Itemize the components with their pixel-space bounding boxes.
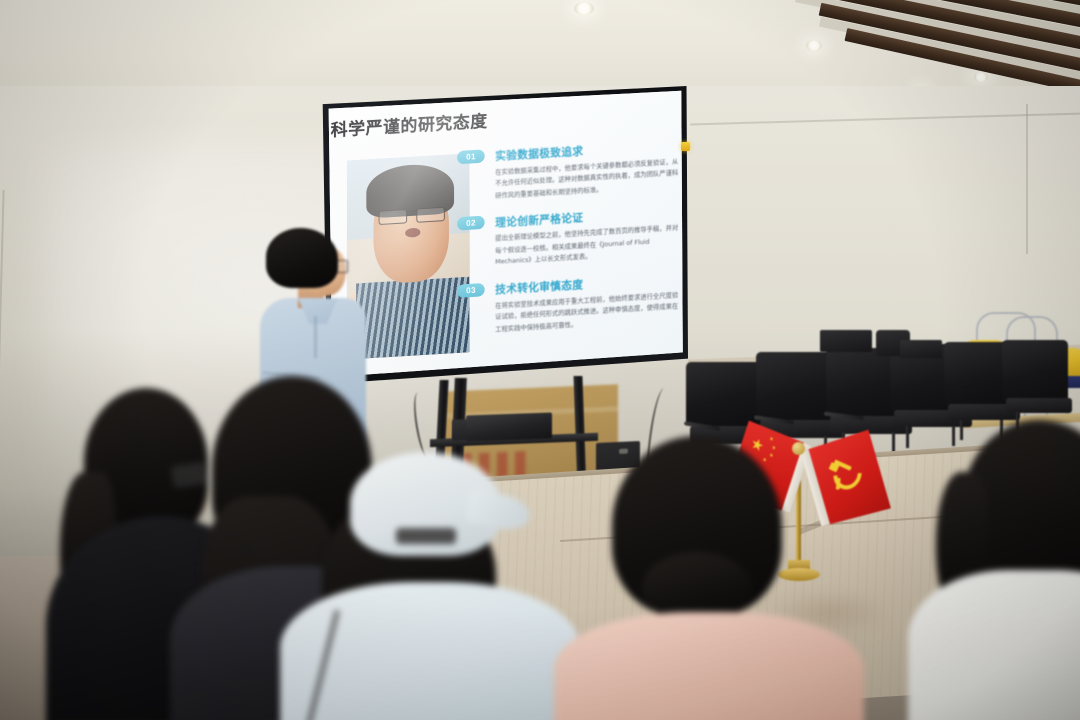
audience-right-white xyxy=(932,420,1080,720)
slide-item-list: 01 实验数据极致追求 在实验数据采集过程中，他要求每个关键参数都必须反复验证，… xyxy=(478,137,683,350)
cap-strap xyxy=(396,528,456,544)
presentation-room-photo: 科学严谨的研究态度 xyxy=(0,0,1080,720)
sickle-icon xyxy=(827,453,867,495)
sickle-handle xyxy=(835,478,840,489)
item-body-text: 在实验数据采集过程中，他要求每个关键参数都必须反复验证，从不允许任何近似处理。这… xyxy=(495,156,684,202)
item-body-text: 提出全新理论模型之前，他坚持先完成了数百页的推导手稿，并对每个假设逐一校核。相关… xyxy=(495,222,684,268)
audience-center-bun xyxy=(580,436,830,720)
wall-panel-seam xyxy=(1026,104,1028,254)
item-number-badge: 02 xyxy=(457,216,485,231)
photo-lens-right xyxy=(416,206,444,222)
presenter-placket xyxy=(314,316,317,358)
item-body-text: 在将实验室技术成果应用于重大工程前，他始终要求进行全尺度验证试验，拒绝任何形式的… xyxy=(495,289,684,335)
slide-title: 科学严谨的研究态度 xyxy=(330,108,487,142)
slide-item: 02 理论创新严格论证 提出全新理论模型之前，他坚持先完成了数百页的推导手稿，并… xyxy=(478,204,683,270)
slide-item: 03 技术转化审慎态度 在将实验室技术成果应用于重大工程前，他始终要求进行全尺度… xyxy=(478,271,683,337)
slide-item: 01 实验数据极致追求 在实验数据采集过程中，他要求每个关键参数都必须反复验证，… xyxy=(478,137,683,203)
audience-top xyxy=(554,612,864,720)
audience-top xyxy=(908,570,1080,720)
hammer-and-sickle-icon xyxy=(826,454,862,495)
ceiling-downlight xyxy=(574,2,594,15)
photo-glasses xyxy=(378,208,444,231)
presenter-hair xyxy=(266,228,338,288)
photo-lens-left xyxy=(378,209,406,225)
bezel-sticker-icon xyxy=(681,142,690,151)
item-number-badge: 03 xyxy=(457,283,485,298)
av-equipment-box xyxy=(820,330,872,352)
item-number-badge: 01 xyxy=(457,149,485,164)
av-equipment-box xyxy=(900,340,942,358)
audience-white-cap xyxy=(300,432,560,720)
